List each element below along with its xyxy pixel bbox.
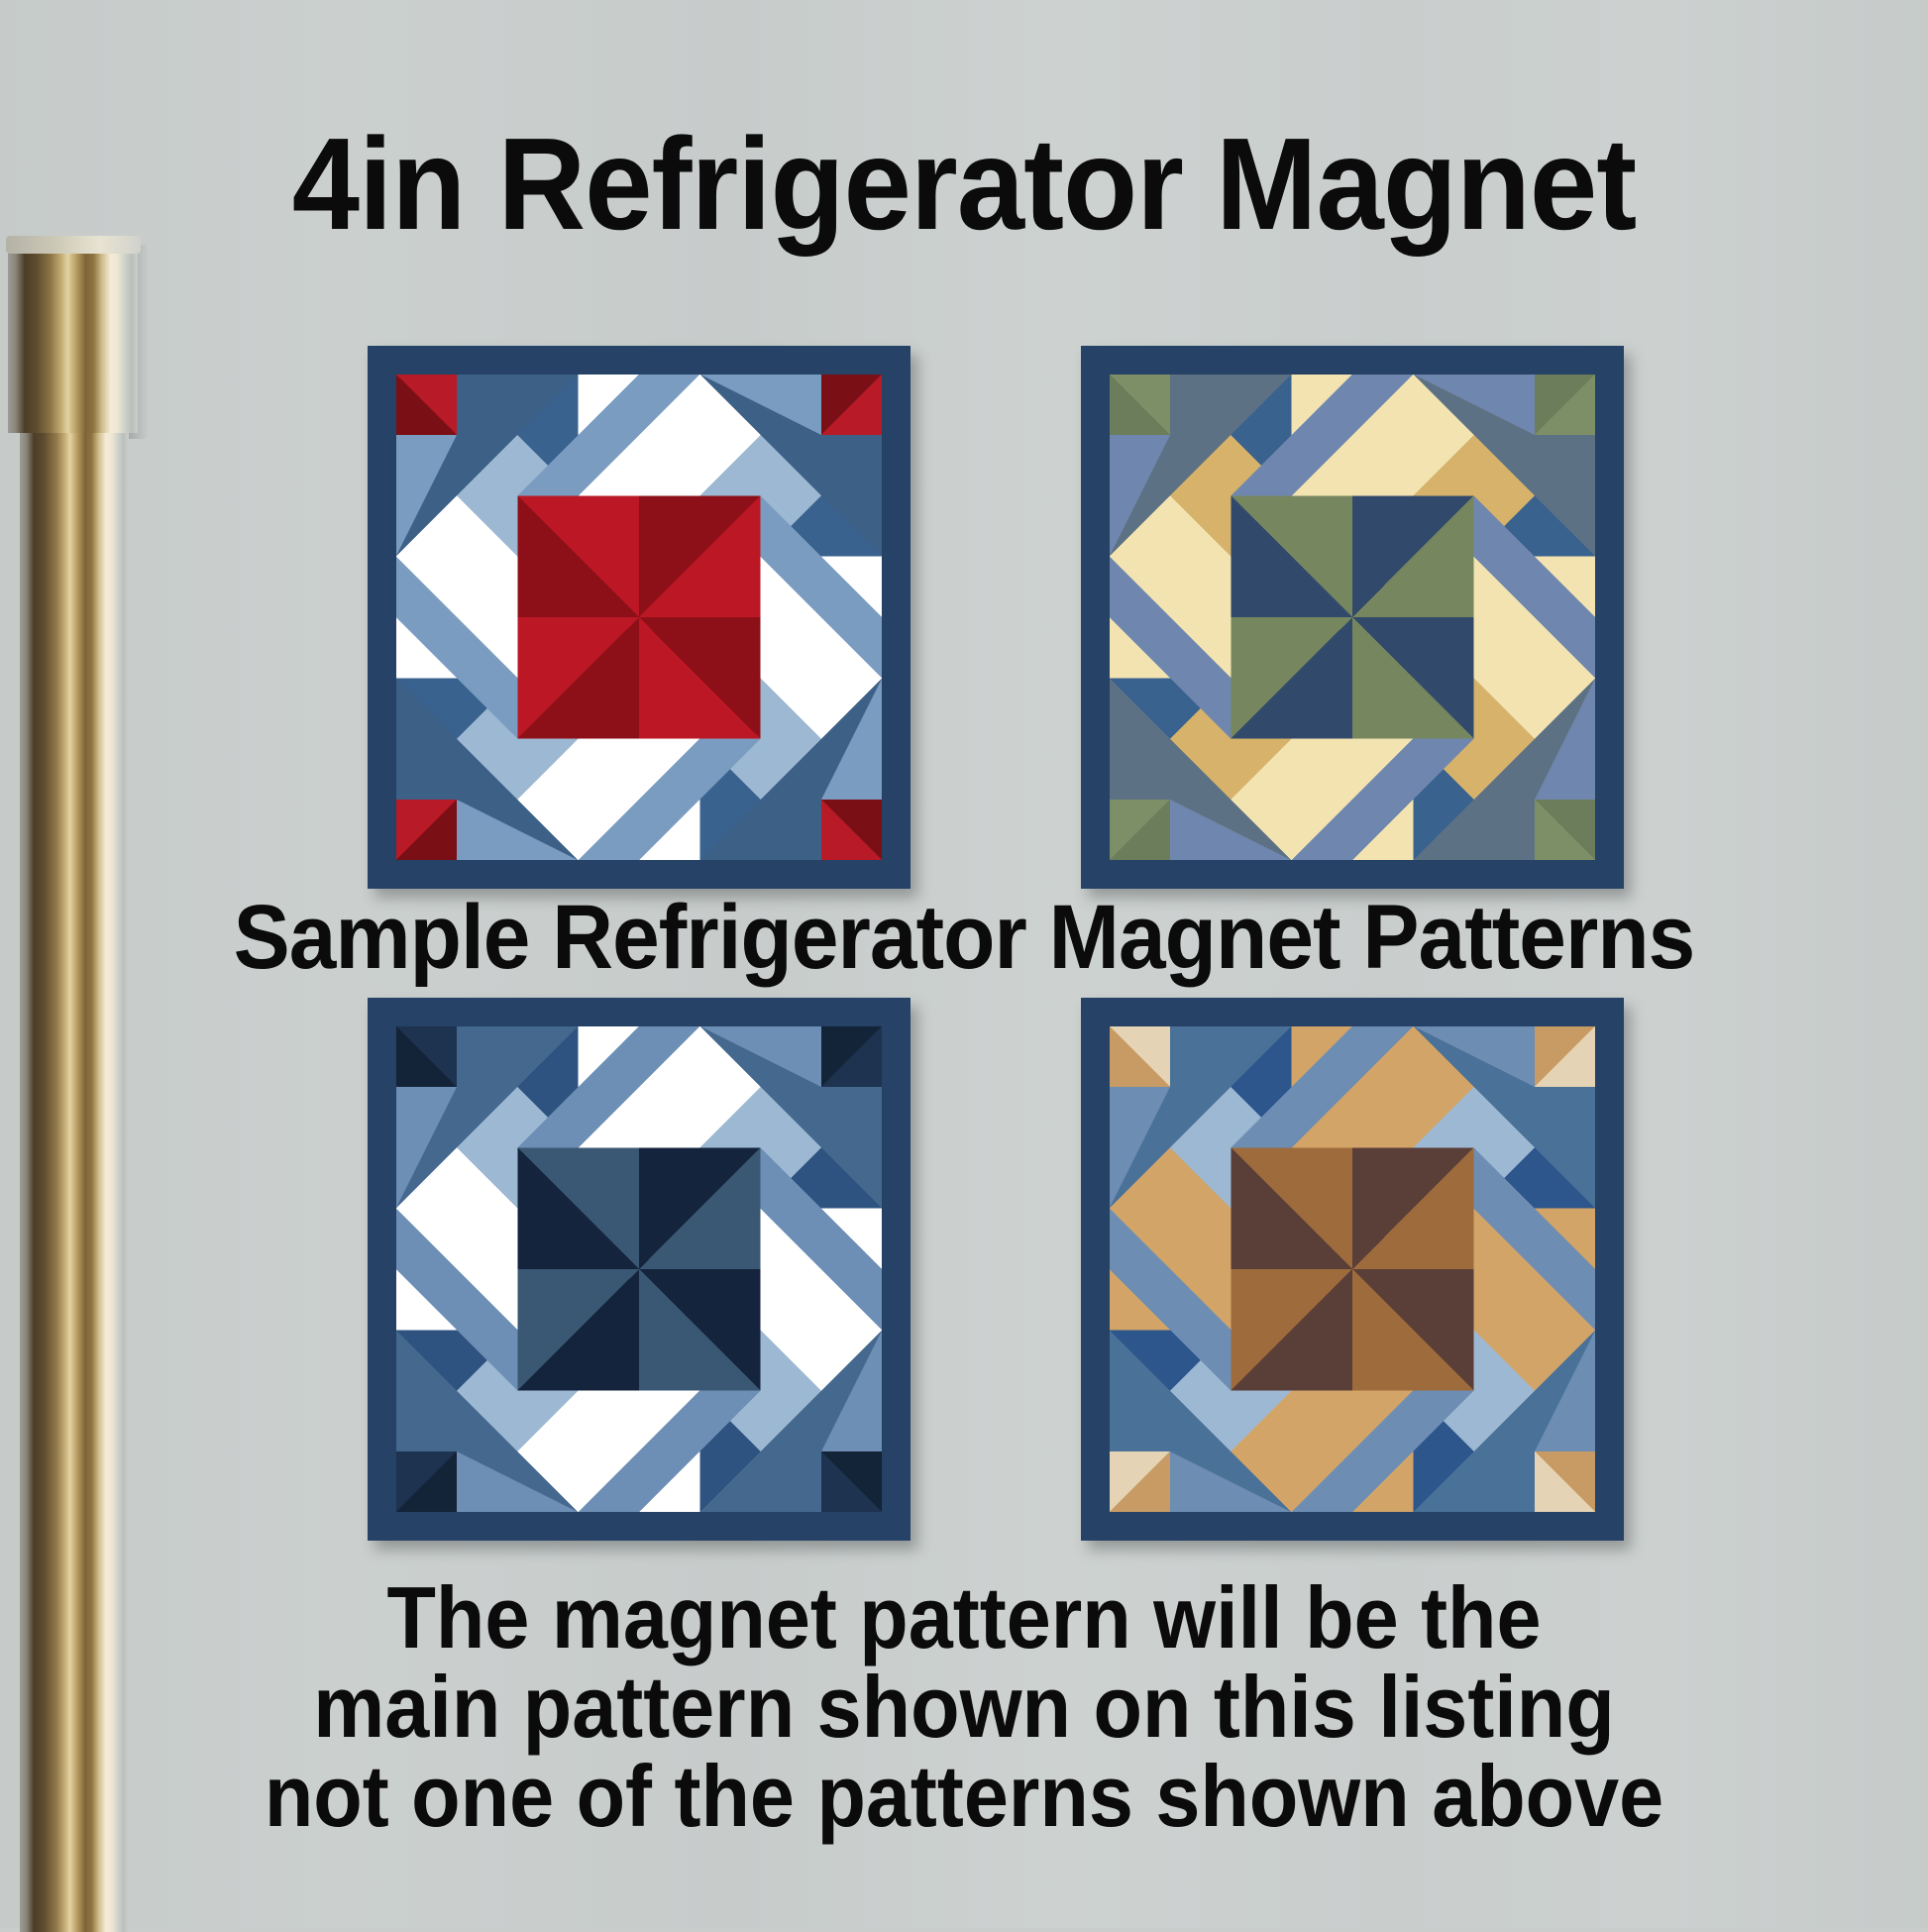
quilt-pattern-bottom-left[interactable] (368, 998, 910, 1541)
disclaimer-line-3: not one of the patterns shown above (77, 1752, 1851, 1841)
page-title: 4in Refrigerator Magnet (67, 119, 1861, 250)
disclaimer-line-2: main pattern shown on this listing (77, 1663, 1851, 1752)
quilt-pattern-top-left[interactable] (368, 346, 910, 889)
quilt-pattern-bottom-right[interactable] (1081, 998, 1624, 1541)
product-listing-image: 4in Refrigerator Magnet Sample Refrigera… (0, 0, 1928, 1928)
handle-cap (8, 245, 138, 433)
disclaimer-note: The magnet pattern will be the main patt… (0, 1573, 1928, 1840)
sample-patterns-caption: Sample Refrigerator Magnet Patterns (67, 892, 1861, 983)
quilt-pattern-top-right[interactable] (1081, 346, 1624, 889)
disclaimer-line-1: The magnet pattern will be the (77, 1573, 1851, 1663)
